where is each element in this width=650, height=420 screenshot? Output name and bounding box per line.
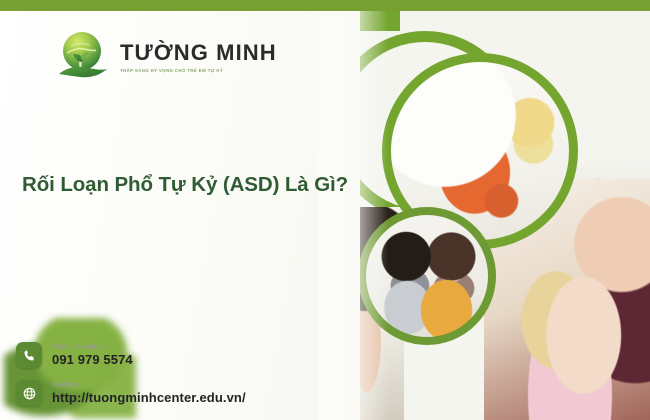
contact-value-phone: 091 979 5574 xyxy=(52,353,133,367)
contact-block: Phone Number: 091 979 5574 Website: http… xyxy=(16,342,246,406)
promo-banner: TƯỜNG MINH THẮP SÁNG HY VỌNG CHO TRẺ EM … xyxy=(0,0,650,420)
photo-collage xyxy=(330,11,650,420)
child-and-therapist-with-puzzle-photo xyxy=(358,207,496,345)
contact-value-website: http://tuongminhcenter.edu.vn/ xyxy=(52,391,246,405)
page-title: Rối Loạn Phổ Tự Kỷ (ASD) Là Gì? xyxy=(22,172,352,198)
brand-tagline: THẮP SÁNG HY VỌNG CHO TRẺ EM TỰ KỶ xyxy=(120,68,277,73)
contact-label-website: Website: xyxy=(52,381,246,389)
contact-row-website[interactable]: Website: http://tuongminhcenter.edu.vn/ xyxy=(16,380,246,406)
globe-sprout-icon xyxy=(55,26,111,84)
phone-icon xyxy=(16,342,42,368)
brand-name: TƯỜNG MINH xyxy=(120,41,277,64)
contact-row-phone[interactable]: Phone Number: 091 979 5574 xyxy=(16,342,246,368)
globe-icon xyxy=(16,380,42,406)
brand-logo: TƯỜNG MINH THẮP SÁNG HY VỌNG CHO TRẺ EM … xyxy=(55,26,277,84)
contact-label-phone: Phone Number: xyxy=(52,343,133,351)
top-accent-bar xyxy=(0,0,650,11)
